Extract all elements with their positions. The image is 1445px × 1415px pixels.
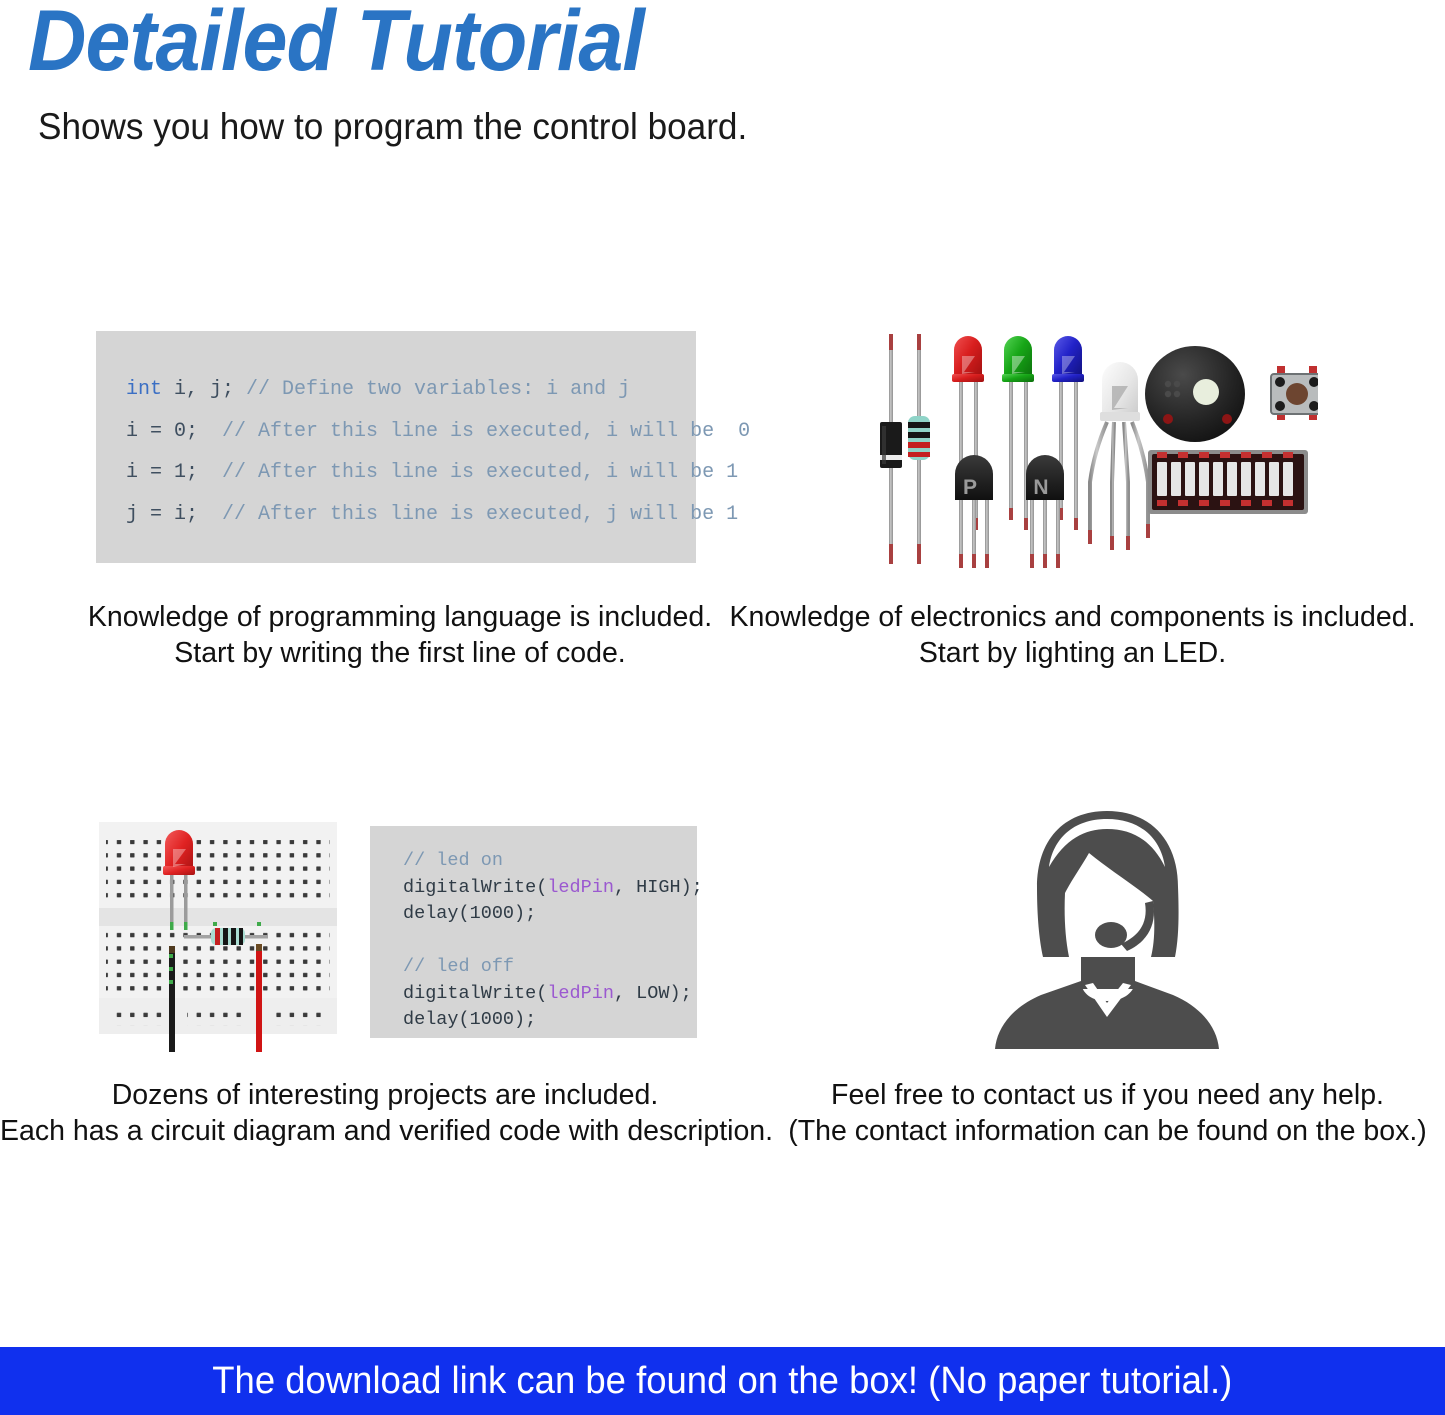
caption-line: Knowledge of programming language is inc… <box>20 600 780 636</box>
code-token: delay(1000); <box>403 903 536 924</box>
code-line: i = 0; // After this line is executed, i… <box>126 411 696 453</box>
transistor-npn-label: N <box>1033 476 1048 499</box>
code-line: digitalWrite(ledPin, HIGH); <box>403 875 697 902</box>
code-token: i, j; <box>162 378 246 401</box>
code-token: ledPin <box>547 983 614 1004</box>
code-token: digitalWrite( <box>403 983 547 1004</box>
code-token: delay(1000); <box>403 1009 536 1030</box>
code-token: , HIGH); <box>614 877 703 898</box>
caption-line: Dozens of interesting projects are inclu… <box>0 1078 770 1114</box>
led-red-icon <box>952 336 984 530</box>
code-block-variables: int i, j; // Define two variables: i and… <box>96 331 696 563</box>
caption-line: Each has a circuit diagram and verified … <box>0 1114 770 1150</box>
dip-switch-icon <box>1148 450 1308 514</box>
code-line: i = 1; // After this line is executed, i… <box>126 452 696 494</box>
breadboard-circuit-illustration <box>99 822 337 1052</box>
code-line: j = i; // After this line is executed, j… <box>126 494 696 536</box>
code-block-led-blink: // led ondigitalWrite(ledPin, HIGH);dela… <box>370 826 697 1038</box>
page-title: Detailed Tutorial <box>28 0 644 91</box>
code-token: i = 1; <box>126 461 222 484</box>
code-token: // led off <box>403 956 514 977</box>
code-token: i = 0; <box>126 420 222 443</box>
diode-icon <box>880 334 902 564</box>
code-token: int <box>126 378 162 401</box>
rgb-led-icon <box>1088 362 1150 550</box>
jumper-wire-black <box>169 946 175 1052</box>
code-token: // Define two variables: i and j <box>246 378 630 401</box>
caption-support: Feel free to contact us if you need any … <box>770 1078 1445 1150</box>
caption-electronics: Knowledge of electronics and components … <box>700 600 1445 672</box>
electronic-components-illustration: P N <box>862 322 1318 570</box>
resistor-icon <box>908 334 930 564</box>
push-button-icon <box>1271 366 1318 420</box>
code-line: delay(1000); <box>403 901 697 928</box>
code-line <box>403 928 697 955</box>
code-token: // After this line is executed, j will b… <box>222 503 738 526</box>
code-token: , LOW); <box>614 983 692 1004</box>
code-line: // led off <box>403 954 697 981</box>
caption-programming: Knowledge of programming language is inc… <box>20 600 780 672</box>
caption-line: Knowledge of electronics and components … <box>700 600 1445 636</box>
code-line: int i, j; // Define two variables: i and… <box>126 369 696 411</box>
caption-line: (The contact information can be found on… <box>770 1114 1445 1150</box>
transistor-pnp-icon: P <box>955 455 993 568</box>
code-token: j = i; <box>126 503 222 526</box>
footer-banner: The download link can be found on the bo… <box>0 1347 1445 1415</box>
code-token: digitalWrite( <box>403 877 547 898</box>
code-token: // led on <box>403 850 503 871</box>
transistor-pnp-label: P <box>963 476 977 499</box>
led-green-icon <box>1002 336 1034 530</box>
page-subtitle: Shows you how to program the control boa… <box>38 106 747 148</box>
caption-line: Start by lighting an LED. <box>700 636 1445 672</box>
transistor-npn-icon: N <box>1026 455 1064 568</box>
code-line: delay(1000); <box>403 1007 697 1034</box>
support-agent-icon <box>985 805 1230 1050</box>
code-token: // After this line is executed, i will b… <box>222 420 750 443</box>
code-token: ledPin <box>547 877 614 898</box>
jumper-wire-red <box>256 944 262 1052</box>
caption-projects: Dozens of interesting projects are inclu… <box>0 1078 770 1150</box>
code-token: // After this line is executed, i will b… <box>222 461 738 484</box>
code-line: // led on <box>403 848 697 875</box>
caption-line: Feel free to contact us if you need any … <box>770 1078 1445 1114</box>
code-line: digitalWrite(ledPin, LOW); <box>403 981 697 1008</box>
caption-line: Start by writing the first line of code. <box>20 636 780 672</box>
buzzer-icon <box>1145 346 1245 442</box>
footer-banner-text: The download link can be found on the bo… <box>212 1360 1232 1403</box>
